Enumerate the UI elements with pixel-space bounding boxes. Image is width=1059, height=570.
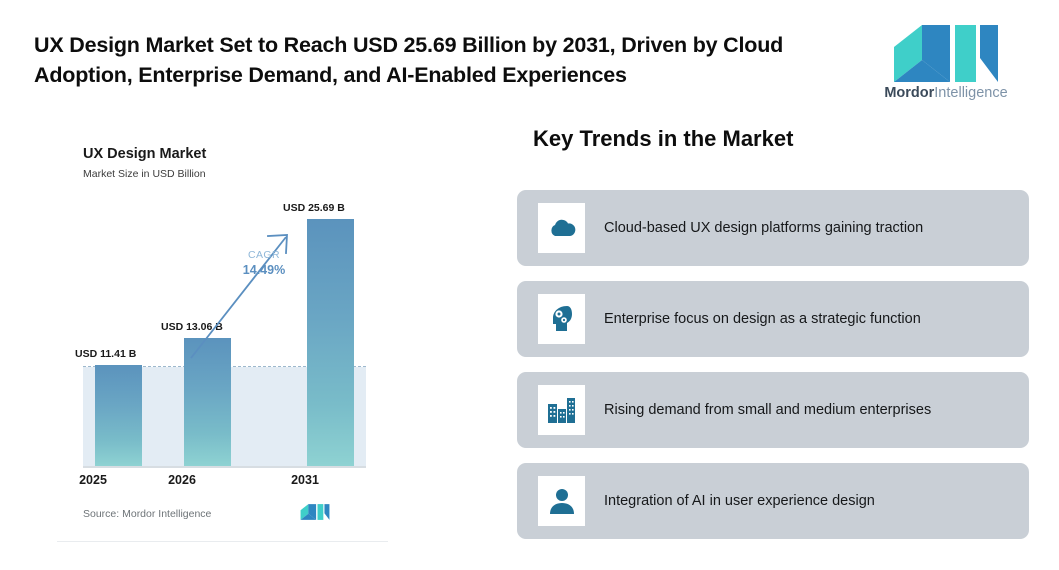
growth-arrow-icon — [83, 211, 366, 468]
chart-card: UX Design Market Market Size in USD Bill… — [57, 131, 388, 542]
trend-icon-frame — [538, 385, 585, 435]
trends-heading: Key Trends in the Market — [533, 126, 793, 152]
header: UX Design Market Set to Reach USD 25.69 … — [0, 0, 1059, 118]
trend-text: Enterprise focus on design as a strategi… — [604, 281, 1009, 357]
trend-text: Rising demand from small and medium ente… — [604, 372, 1009, 448]
chart-source-label: Source: Mordor Intelligence — [83, 508, 211, 520]
x-tick-2025: 2025 — [63, 473, 123, 487]
trend-card[interactable]: Cloud-based UX design platforms gaining … — [517, 190, 1029, 266]
page-title: UX Design Market Set to Reach USD 25.69 … — [34, 30, 854, 90]
chart-subtitle: Market Size in USD Billion — [83, 168, 206, 180]
chart-title: UX Design Market — [83, 146, 206, 162]
trend-icon-frame — [538, 476, 585, 526]
trend-card[interactable]: Integration of AI in user experience des… — [517, 463, 1029, 539]
trend-text: Integration of AI in user experience des… — [604, 463, 1009, 539]
mordor-intelligence-logo-icon — [892, 25, 1000, 82]
trend-card[interactable]: Rising demand from small and medium ente… — [517, 372, 1029, 448]
trend-text: Cloud-based UX design platforms gaining … — [604, 190, 1009, 266]
x-tick-2026: 2026 — [152, 473, 212, 487]
cloud-icon — [547, 216, 577, 240]
cagr-label: CAGR — [231, 248, 297, 263]
logo-wordmark-bold: Mordor — [884, 85, 934, 101]
person-icon — [549, 487, 575, 515]
logo-wordmark-light: Intelligence — [934, 85, 1007, 101]
trend-icon-frame — [538, 294, 585, 344]
logo-wordmark: MordorIntelligence — [876, 85, 1016, 101]
cagr-value: 14.49% — [231, 263, 297, 278]
buildings-icon — [547, 396, 577, 424]
bar-chart-plot-area: USD 11.41 B USD 13.06 B USD 25.69 B CAGR… — [83, 211, 366, 468]
key-trends-panel: Key Trends in the Market Cloud-based UX … — [517, 126, 1029, 546]
x-tick-2031: 2031 — [275, 473, 335, 487]
brand-logo: MordorIntelligence — [876, 25, 1016, 107]
trend-card[interactable]: Enterprise focus on design as a strategi… — [517, 281, 1029, 357]
head-gears-icon — [548, 304, 576, 334]
trend-icon-frame — [538, 203, 585, 253]
mordor-intelligence-mark-icon — [300, 503, 330, 521]
cagr-annotation: CAGR 14.49% — [231, 248, 297, 278]
